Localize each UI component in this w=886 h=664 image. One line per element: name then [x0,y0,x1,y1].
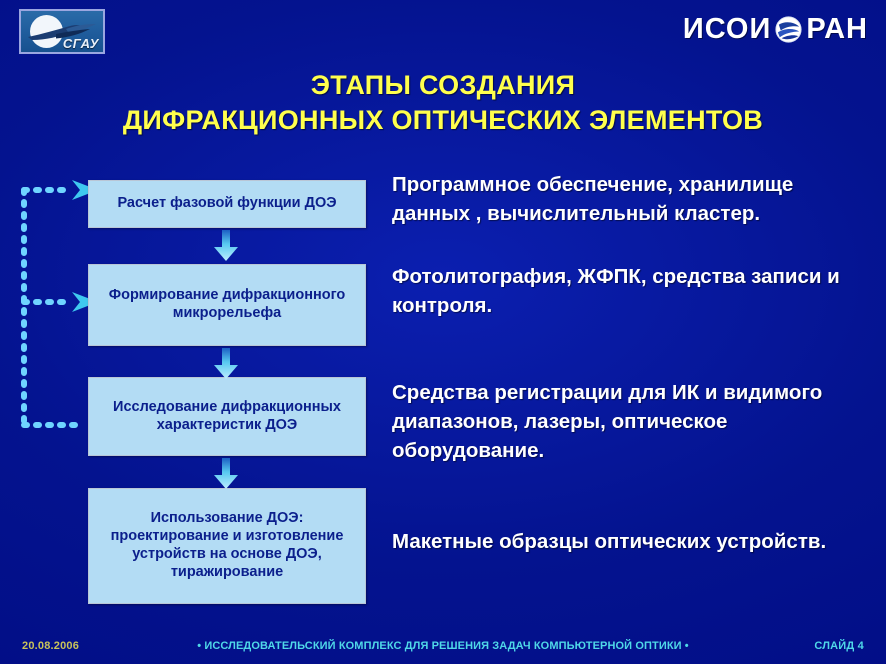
ran-word: РАН [806,15,868,44]
slide-title-line-2: ДИФРАКЦИОННЫХ ОПТИЧЕСКИХ ЭЛЕМЕНТОВ [0,103,886,138]
footer-title: • ИССЛЕДОВАТЕЛЬСКИЙ КОМПЛЕКС ДЛЯ РЕШЕНИЯ… [0,640,886,652]
description-prototype-samples: Макетные образцы оптических устройств. [392,527,874,556]
footer-slide-number: СЛАЙД 4 [814,640,864,652]
isoi-word: ИСОИ [683,15,771,44]
presentation-slide: СГАУ ИСОИ РАН ЭТАПЫ СОЗДАНИЯ ДИФРАКЦИОНН… [0,0,886,664]
sgau-logo-caption: СГАУ [21,36,99,51]
sgau-logo: СГАУ [19,9,105,54]
slide-title-line-1: ЭТАПЫ СОЗДАНИЯ [0,68,886,103]
slide-title: ЭТАПЫ СОЗДАНИЯ ДИФРАКЦИОННЫХ ОПТИЧЕСКИХ … [0,68,886,137]
flow-box-doe-usage[interactable]: Использование ДОЭ: проектирование и изго… [88,488,366,604]
globe-icon [773,14,804,45]
isoi-ran-logo: ИСОИ РАН [683,10,868,48]
flow-box-characteristics-study[interactable]: Исследование дифракционных характеристик… [88,377,366,456]
description-software: Программное обеспечение, хранилище данны… [392,170,874,228]
flow-box-phase-function[interactable]: Расчет фазовой функции ДОЭ [88,180,366,228]
slide-footer: 20.08.2006 • ИССЛЕДОВАТЕЛЬСКИЙ КОМПЛЕКС … [0,638,886,658]
description-photolithography: Фотолитография, ЖФПК, средства записи и … [392,262,874,320]
flow-box-label: Расчет фазовой функции ДОЭ [117,195,336,213]
arrow-down-icon [212,348,240,380]
flow-box-microrelief-formation[interactable]: Формирование дифракционного микрорельефа [88,264,366,346]
arrow-down-icon [212,458,240,490]
flow-box-label: Исследование дифракционных характеристик… [95,399,359,435]
description-registration-tools: Средства регистрации для ИК и видимого д… [392,378,874,465]
flow-box-label: Формирование дифракционного микрорельефа [95,287,359,323]
arrow-down-icon [212,230,240,262]
flow-box-label: Использование ДОЭ: проектирование и изго… [95,510,359,582]
